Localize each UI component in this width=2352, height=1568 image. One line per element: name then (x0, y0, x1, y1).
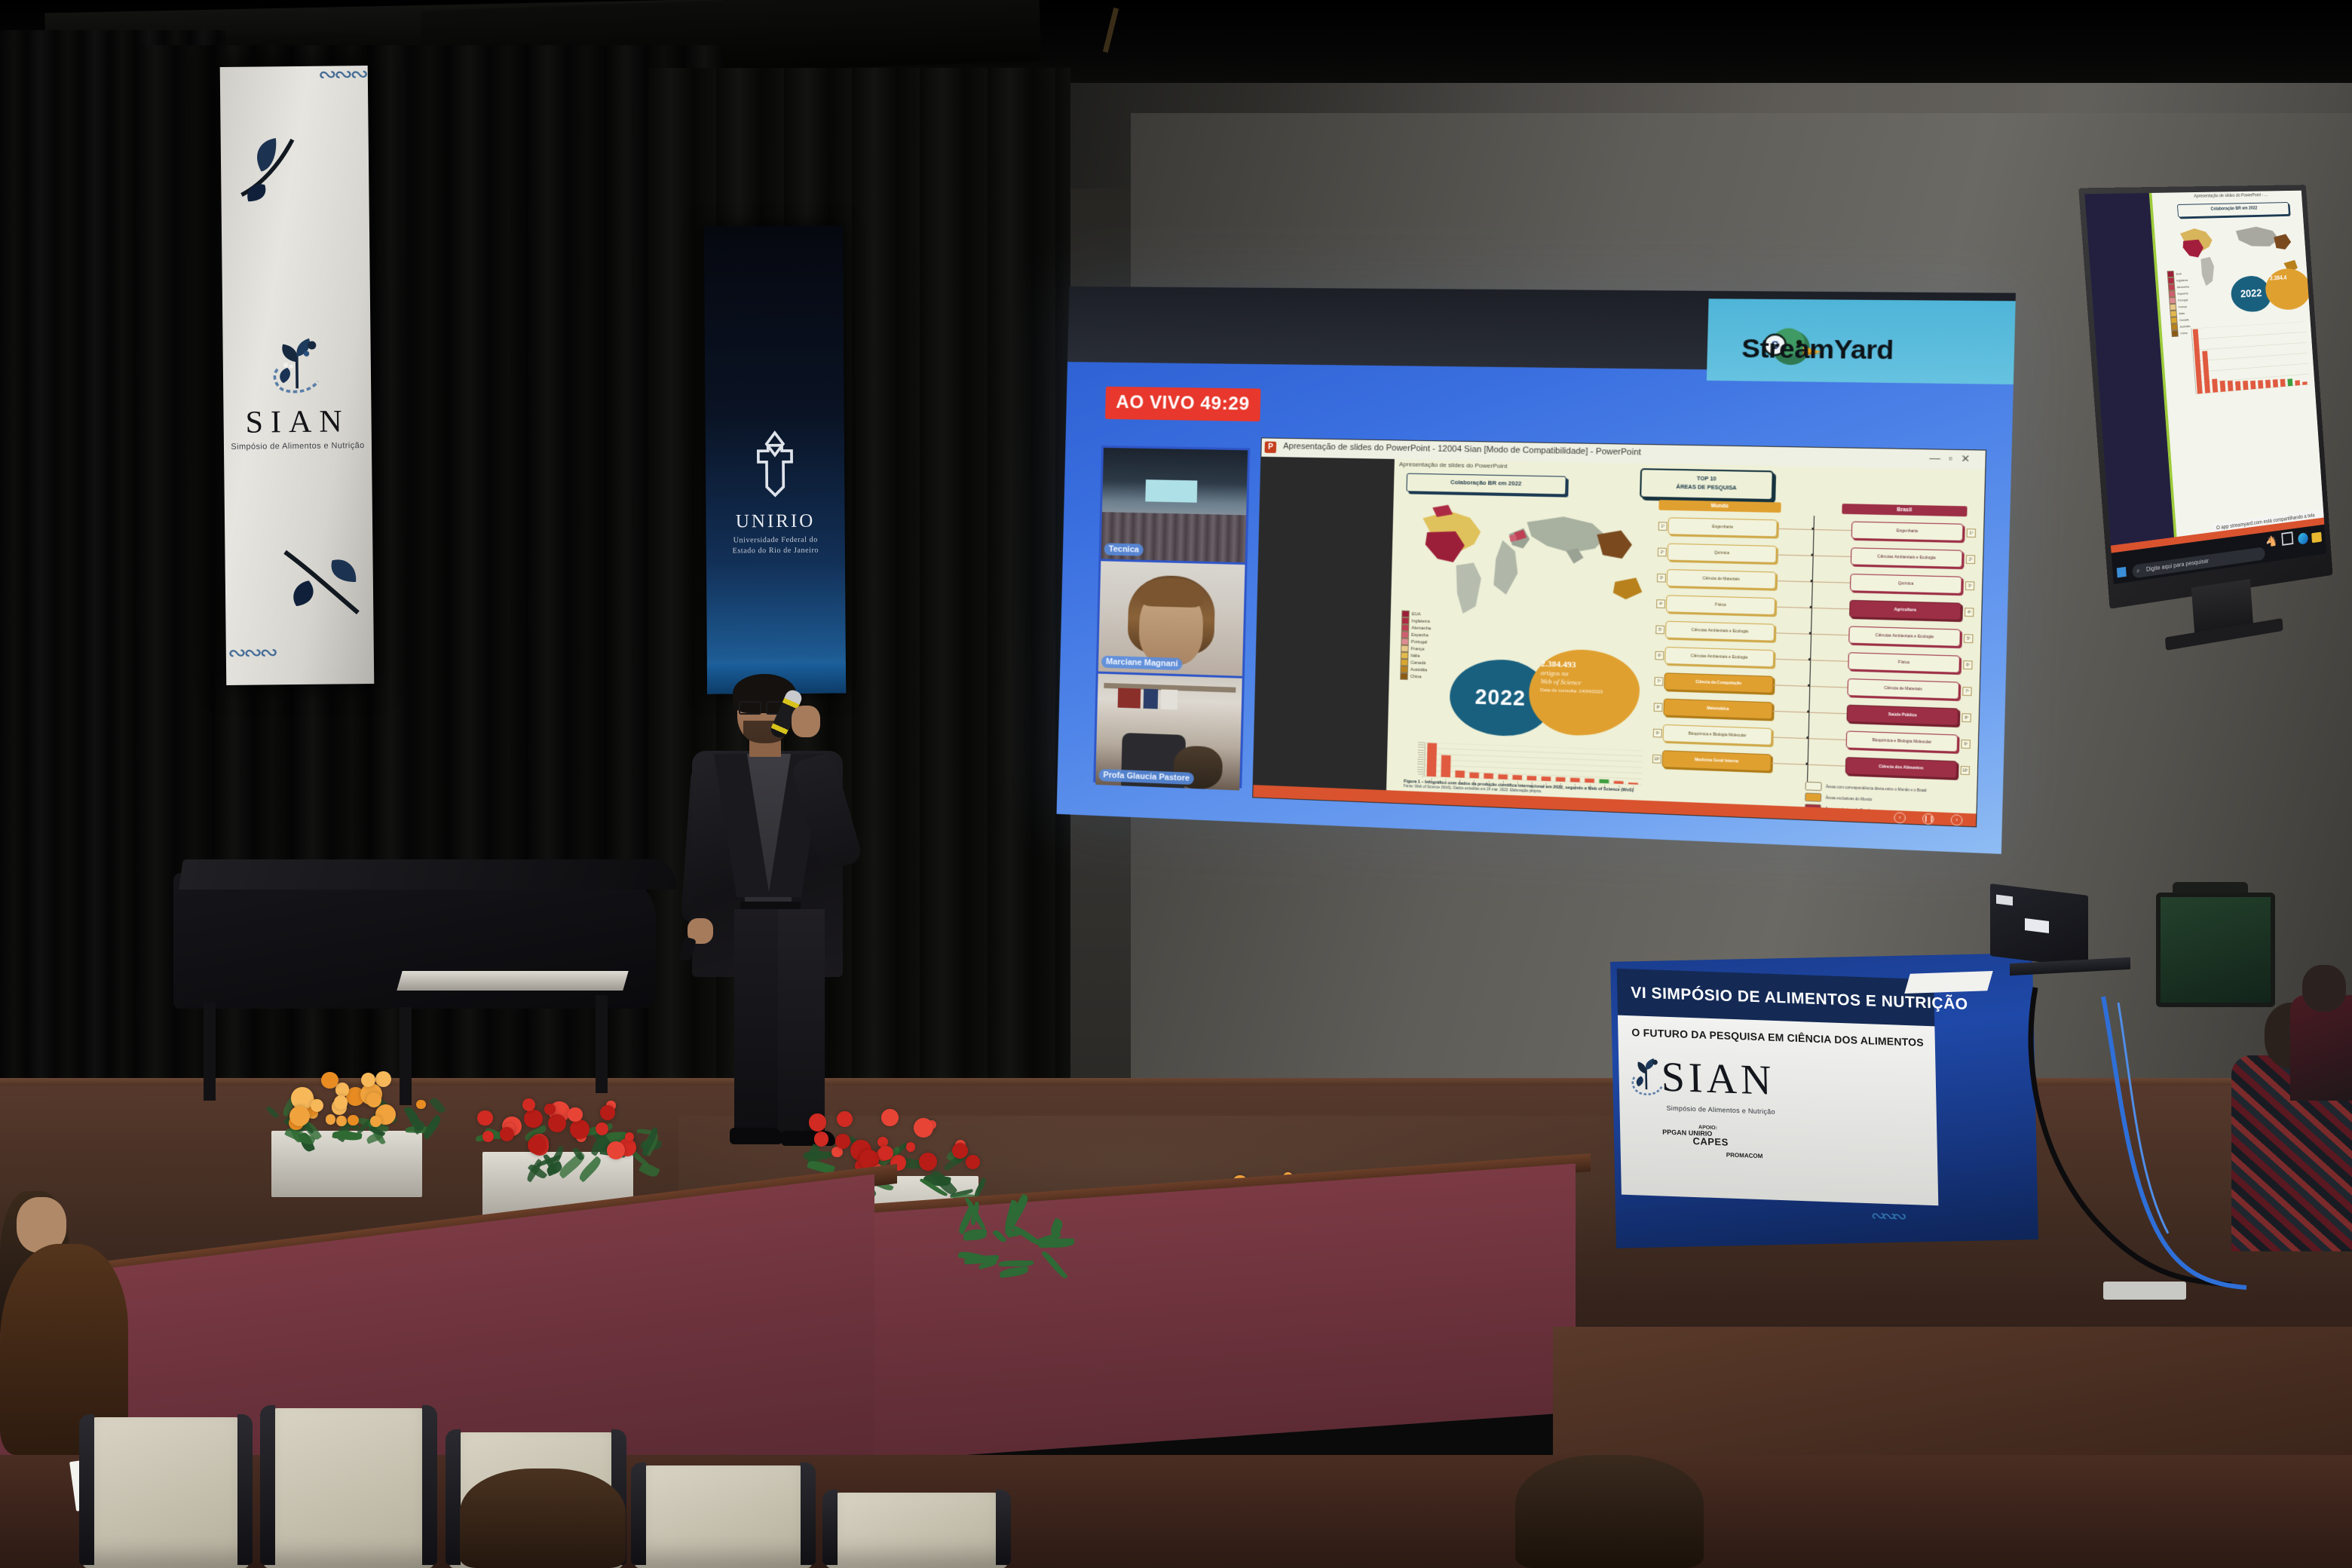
windows-start-icon[interactable] (2117, 567, 2127, 577)
chart-bar (2243, 381, 2248, 390)
flow-node: Ciências Ambientais e Ecologia (1665, 621, 1775, 642)
flower-bloom (528, 1136, 547, 1155)
flow-rank-badge: 9º (1961, 740, 1971, 749)
piano-leg (596, 995, 608, 1093)
powerpoint-icon: P (1264, 442, 1276, 453)
legend-label: Inglaterra (1412, 619, 1430, 624)
laptop-sticker-corner (1996, 895, 2013, 906)
flow-connector (1808, 712, 1846, 715)
legend-label: Portugal (2178, 298, 2188, 302)
flow-legend-swatch (1805, 782, 1822, 791)
flow-connector (1775, 632, 1811, 634)
chart-y-tick: 50.000 (1418, 773, 1423, 775)
presenter-leg-left (734, 909, 779, 1135)
legend-label: Alemanha (2177, 285, 2189, 289)
streamyard-wordmark: StreamYard (1741, 334, 1991, 368)
chart-gridline (2191, 321, 2305, 328)
powerpoint-letterbox-left (1253, 457, 1395, 803)
book (1160, 689, 1178, 709)
map-legend-row: China (1400, 672, 1449, 681)
chart-bar (2202, 351, 2210, 393)
flower-arrangement (264, 1067, 430, 1140)
chart-y-tick: 250.000 (1418, 764, 1424, 765)
chart-gridline (2194, 353, 2308, 361)
chart-y-tick: 700.000 (1418, 743, 1424, 744)
collaboration-box: Colaboração BR em 2022 (1406, 473, 1566, 495)
chart-y-tick: 550.000 (1418, 749, 1424, 751)
previous-slide-icon[interactable]: ‹ (1894, 812, 1906, 823)
sian-tagline: Simpósio de Alimentos e Nutrição (224, 441, 372, 452)
articles-stat-blob: 2.384.493 artigos na Web of Science Data… (1528, 648, 1640, 738)
book (1117, 688, 1141, 709)
flow-node: Ciências Ambientais e Ecologia (1851, 547, 1963, 568)
flower-bloom (522, 1098, 535, 1111)
unirio-wordmark: UNIRIO (706, 510, 844, 532)
flower-arrangement (475, 1095, 641, 1164)
chart-y-tick: 400.000 (1418, 757, 1424, 758)
legend-label: França (2179, 305, 2187, 308)
flow-rank-badge: 3º (1657, 574, 1666, 583)
chart-y-tick: 500.000 (1418, 752, 1424, 753)
monitor-bar-chart (2174, 321, 2311, 400)
flow-connector (1777, 555, 1813, 556)
legend-swatch (1401, 624, 1410, 632)
flow-connector (1772, 763, 1808, 765)
flow-connector-dot (1808, 658, 1811, 660)
flower-bloom (544, 1104, 555, 1114)
flow-rank-badge: 8º (1962, 713, 1971, 722)
window-controls[interactable]: —▫✕ (1929, 452, 1979, 466)
chart-gridline (2194, 363, 2308, 372)
flow-node: Ciência de Materiais (1847, 678, 1959, 700)
legend-swatch (1401, 638, 1409, 645)
leaf-ornament-icon-bottom (277, 533, 369, 624)
flow-connector (1809, 686, 1847, 688)
flow-connector (1813, 556, 1851, 557)
chart-bar (2228, 381, 2234, 391)
laptop[interactable] (1990, 890, 2126, 980)
flow-node: Ciência de Materiais (1667, 569, 1776, 590)
piano-keys (397, 971, 628, 991)
flow-connector (1778, 528, 1814, 530)
flow-connector (1808, 738, 1845, 740)
chart-bar (1542, 776, 1551, 781)
fern-frond (1000, 1266, 1029, 1279)
flow-node: Bioquímica e Biologia Molecular (1846, 730, 1958, 752)
presenter-shoe-left (730, 1128, 782, 1144)
chart-bar (1556, 777, 1566, 782)
flow-rank-badge: 4º (1965, 608, 1974, 617)
audience-member (1515, 1455, 1711, 1568)
chart-bar (1614, 781, 1624, 784)
unirio-banner: UNIRIO Universidade Federal do Estado do… (704, 225, 846, 694)
legend-label: Espanha (2177, 291, 2188, 296)
presenter (671, 678, 867, 1176)
flower-bloom (289, 1106, 310, 1126)
sponsor-capes: CAPES (1692, 1135, 1729, 1148)
flow-rank-badge: 1º (1658, 522, 1668, 531)
flow-connector-dot (1809, 632, 1811, 634)
flow-connector-dot (1807, 710, 1809, 712)
flow-rank-badge: 5º (1964, 634, 1974, 643)
chart-y-tick: 350.000 (1418, 759, 1424, 761)
flower-bloom (311, 1099, 324, 1113)
dna-helix-icon-bottom: ∾∾∾ (228, 639, 276, 666)
search-icon: ⌕ (2136, 564, 2140, 577)
live-timer: 49:29 (1200, 393, 1250, 414)
participant-tile-strip: Tecnica Marciane Magnani Profa Glaucia P… (1093, 446, 1250, 789)
legend-label: Alemanha (1411, 626, 1431, 631)
table-banner: VI SIMPÓSIO DE ALIMENTOS E NUTRIÇÃO O FU… (1617, 969, 1939, 1206)
chart-bar (1427, 743, 1438, 776)
flow-rank-badge: 2º (1658, 548, 1667, 557)
chart-y-tick: 100.000 (1417, 771, 1423, 773)
chart-y-tick: 450.000 (1418, 755, 1424, 756)
audience-member (460, 1468, 633, 1568)
chart-bar (1455, 770, 1465, 778)
flower-bloom (881, 1109, 899, 1126)
flower-bloom (966, 1155, 980, 1169)
legend-swatch (1401, 652, 1409, 660)
dna-helix-icon-table: ∾∾∾ (1870, 1205, 1903, 1227)
task-view-icon[interactable]: 🐴 (2265, 534, 2277, 548)
leaf-ornament-icon (233, 130, 317, 213)
map-legend: EUAInglaterraAlemanhaEspanhaPortugalFran… (1400, 611, 1450, 681)
flower-bloom (500, 1127, 514, 1141)
monitor-slide: Apresentação de slides do PowerPoint - .… (2151, 191, 2324, 544)
flower-bloom (809, 1113, 826, 1131)
flow-node: Ciência dos Alimentos (1845, 757, 1958, 779)
window-title: Apresentação de slides do PowerPoint - 1… (1283, 442, 1641, 458)
flower-bloom (416, 1100, 425, 1109)
top-areas-label: TOP 10 ÁREAS DE PESQUISA (1641, 470, 1772, 493)
top-areas-box: TOP 10 ÁREAS DE PESQUISA (1640, 468, 1774, 501)
chart-bar (2273, 379, 2278, 387)
taskbar-search-placeholder: Digite aqui para pesquisar (2146, 557, 2210, 572)
flower-bloom (335, 1083, 349, 1096)
table-banner-subhead: O FUTURO DA PESQUISA EM CIÊNCIA DOS ALIM… (1631, 1026, 1919, 1048)
fern-frond (265, 1105, 279, 1119)
legend-swatch (1401, 617, 1410, 625)
chart-gridline (2193, 342, 2307, 350)
flower-bloom (919, 1153, 937, 1171)
flower-bloom (548, 1114, 566, 1132)
legend-label: Itália (2179, 311, 2185, 315)
flow-node: Engenharia (1851, 522, 1964, 542)
auditorium-seat (635, 1465, 812, 1568)
flow-connector-dot (1810, 606, 1812, 608)
legend-swatch (1401, 631, 1410, 639)
pause-icon[interactable]: ❙❙ (1922, 813, 1934, 825)
unirio-subtitle-l2: Estado do Rio de Janeiro (711, 545, 841, 556)
table-banner-body: O FUTURO DA PESQUISA EM CIÊNCIA DOS ALIM… (1618, 1015, 1938, 1206)
flow-node: Ciência da Computação (1664, 672, 1773, 694)
legend-label: França (1411, 647, 1425, 652)
participant-tile[interactable]: Marciane Magnani (1098, 561, 1245, 678)
powerpoint-window[interactable]: P Apresentação de slides do PowerPoint -… (1252, 437, 1986, 827)
monitor-collab-box: Colaboração BR em 2022 (2177, 202, 2289, 218)
flow-rank-badge: 1º (1967, 528, 1977, 537)
audience-hair (460, 1468, 626, 1568)
flow-node: Física (1848, 652, 1960, 673)
legend-label: Canadá (1410, 660, 1426, 666)
legend-swatch (1401, 611, 1410, 617)
explorer-icon[interactable] (2311, 532, 2322, 544)
chart-bar (2250, 381, 2256, 390)
legend-label: Austrália (1410, 667, 1427, 672)
flower-bloom (607, 1141, 625, 1159)
flow-rank-badge: 5º (1655, 625, 1664, 634)
chart-bar (2235, 381, 2240, 390)
auditorium-seat (83, 1417, 249, 1568)
presenter-right-hand (792, 706, 820, 737)
flow-rank-badge: 8º (1654, 703, 1663, 712)
flower-bloom (370, 1116, 381, 1126)
participant-name: Tecnica (1104, 543, 1144, 556)
slide-canvas: Apresentação de slides do PowerPoint Col… (1386, 459, 1985, 813)
audience-head (2302, 965, 2346, 1012)
chart-y-tick: 200.000 (1418, 767, 1424, 768)
flow-node: Física (1666, 595, 1775, 615)
flow-rank-badge: 3º (1965, 581, 1975, 590)
chart-bar (2287, 378, 2292, 386)
flow-connector (1776, 580, 1812, 582)
legend-label: Austrália (2179, 324, 2190, 329)
chart-bar (1498, 774, 1508, 779)
projection-screen: Desenvolvido por S StreamYard AO VIVO 49… (1057, 286, 2016, 854)
legend-swatch (1400, 672, 1408, 680)
flow-connector-dot (1811, 528, 1814, 530)
flow-rank-badge: 6º (1655, 651, 1664, 660)
flower-bloom (348, 1115, 358, 1125)
chart-bar (1599, 779, 1609, 784)
chart-gridline (2192, 332, 2306, 339)
flower-bloom (326, 1114, 335, 1124)
auditorium-seat (264, 1408, 433, 1568)
flower-bloom (482, 1131, 494, 1142)
flow-rank-badge: 7º (1962, 687, 1972, 696)
participant-name: Marciane Magnani (1101, 656, 1183, 671)
legend-label: Espanha (1411, 632, 1429, 638)
unirio-logo-icon (740, 430, 810, 509)
flow-connector-dot (1806, 737, 1808, 739)
auditorium-scene: ∾∾∾ ∾∾∾ SIAN Simpósio de Alimentos e Nut… (0, 0, 2352, 1568)
chart-bar (2302, 381, 2308, 385)
legend-label: Inglaterra (2176, 278, 2188, 283)
flow-rank-badge: 6º (1963, 660, 1973, 669)
chart-bar (2258, 380, 2263, 388)
flow-node: Medicina Geral Interna (1662, 750, 1772, 771)
top-areas-line1: TOP 10 (1697, 476, 1717, 482)
legend-label: Portugal (1411, 639, 1427, 645)
flow-connector (1808, 764, 1845, 767)
flower-bloom (477, 1110, 493, 1126)
table-banner-sian-wordmark: SIAN (1661, 1053, 1836, 1107)
chart-y-tick: 300.000 (1418, 761, 1424, 763)
legend-swatch (1401, 659, 1409, 666)
flow-connector (1811, 634, 1848, 636)
legend-swatch (1400, 666, 1408, 673)
chart-bar (1484, 773, 1493, 779)
monitor-stat-blob: 2.384.4 (2264, 268, 2311, 311)
flower-bloom (336, 1116, 346, 1125)
flower-bloom (914, 1118, 933, 1138)
chart-bar (2295, 380, 2300, 385)
chart-bar (1585, 779, 1594, 783)
chart-bar (2265, 380, 2271, 388)
top-areas-line2: ÁREAS DE PESQUISA (1676, 485, 1736, 492)
piano-leg (204, 1003, 216, 1101)
flow-rank-badge: 10º (1652, 755, 1661, 764)
flow-connector-dot (1811, 554, 1813, 556)
seated-person-right-2 (2290, 965, 2352, 1101)
legend-label: EUA (2176, 272, 2182, 276)
chart-y-tick: 600.000 (1418, 747, 1424, 749)
edge-icon[interactable] (2298, 532, 2308, 545)
sian-wordmark: SIAN (223, 403, 371, 441)
power-strip (2103, 1282, 2186, 1300)
flow-node: Agricultura (1849, 600, 1962, 620)
piano-lid (179, 859, 681, 890)
top-areas-flow-diagram: Mundo Brasil Engenharia1ºQuímica2ºCiênci… (1649, 500, 1977, 802)
grand-piano (173, 859, 716, 1101)
flow-rank-badge: 10º (1960, 766, 1970, 775)
flower-bloom (835, 1134, 850, 1149)
audience-hair (1515, 1455, 1704, 1568)
flow-legend-label: Áreas com correspondência direta entre o… (1826, 785, 1927, 793)
flow-node: Química (1850, 574, 1962, 594)
flower-planter (271, 1131, 422, 1197)
flow-column-world-header: Mundo (1658, 500, 1781, 513)
monitor-screen[interactable]: Apresentação de slides do PowerPoint - .… (2084, 191, 2326, 584)
presenter-leg-right (778, 909, 825, 1135)
legend-label: Canadá (2179, 317, 2189, 322)
flow-node: Ciências Ambientais e Ecologia (1848, 626, 1961, 647)
flow-node: Saúde Pública (1846, 705, 1958, 726)
flow-rank-badge: 2º (1966, 555, 1976, 564)
flower-bloom (814, 1132, 829, 1147)
legend-swatch (1401, 645, 1409, 653)
flow-connector (1814, 529, 1851, 531)
flow-column-brazil-header: Brasil (1842, 504, 1967, 516)
flower-bloom (952, 1143, 968, 1159)
sian-vertical-banner: ∾∾∾ ∾∾∾ SIAN Simpósio de Alimentos e Nut… (220, 66, 375, 685)
flow-rank-badge: 4º (1656, 599, 1665, 608)
task-view-square-icon[interactable] (2281, 531, 2293, 546)
flow-connector (1812, 581, 1850, 583)
participant-tile[interactable]: Profa Glaucia Pastore (1095, 674, 1242, 791)
unirio-subtitle-l1: Universidade Federal do (711, 534, 841, 546)
chart-y-tick: 150.000 (1417, 769, 1423, 770)
fern-frond (963, 1229, 988, 1240)
second-monitor: Apresentação de slides do PowerPoint - .… (2078, 185, 2332, 609)
flow-connector (1811, 608, 1849, 609)
fern-plant (935, 1196, 1055, 1279)
flow-connector-dot (1805, 763, 1808, 765)
flow-node: Matemática (1663, 699, 1772, 720)
flow-connector-dot (1811, 580, 1813, 582)
fern-frond (999, 1260, 1034, 1266)
chart-bar (1512, 775, 1522, 780)
legend-label: China (1410, 674, 1422, 679)
flow-node: Química (1668, 544, 1777, 563)
flow-connector-dot (1808, 684, 1810, 687)
flow-connector (1774, 659, 1810, 661)
flow-connector (1775, 607, 1811, 608)
flow-connector (1773, 684, 1809, 687)
next-slide-icon[interactable]: › (1951, 814, 1963, 825)
sian-plant-logo-icon (262, 330, 332, 400)
chart-bar (2280, 379, 2286, 387)
flower-bloom (568, 1107, 582, 1122)
flower-bloom (837, 1111, 853, 1127)
chart-y-tick: 0 (1423, 776, 1424, 778)
flow-node: Ciências Ambientais e Ecologia (1664, 647, 1774, 667)
book (1143, 689, 1158, 709)
sponsor-promacom: PROMACOM (1726, 1152, 1763, 1160)
live-status-badge: AO VIVO 49:29 (1105, 387, 1260, 421)
chart-bar (1441, 755, 1450, 777)
chart-bar (2220, 381, 2226, 392)
chart-y-tick: 650.000 (1418, 745, 1424, 746)
flower-bloom (321, 1072, 338, 1089)
flow-node: Bioquímica e Biologia Molecular (1662, 724, 1772, 746)
participant-tile[interactable]: Tecnica (1101, 448, 1248, 565)
auditorium-seat (826, 1493, 1007, 1568)
flower-bloom (361, 1073, 376, 1088)
collaboration-label: Colaboração BR em 2022 (1407, 474, 1566, 493)
live-label: AO VIVO (1116, 392, 1195, 414)
chart-bar (1570, 778, 1580, 782)
articles-line3: Data de consulta: 14/04/2023 (1540, 688, 1631, 697)
unirio-subtitle: Universidade Federal do Estado do Rio de… (711, 534, 841, 556)
flower-bloom (596, 1122, 608, 1135)
flow-connector (1772, 737, 1808, 739)
chart-bar (1469, 772, 1479, 778)
apoio-label: APOIO: (1698, 1125, 1717, 1131)
chart-bar (1527, 776, 1536, 780)
flower-bloom (600, 1105, 615, 1120)
hall-screen (1145, 479, 1197, 503)
chart-bar (2212, 378, 2218, 392)
flow-rank-badge: 9º (1653, 729, 1662, 738)
flower-bloom (570, 1119, 590, 1139)
flow-rank-badge: 7º (1654, 677, 1663, 686)
flow-node: Engenharia (1668, 517, 1777, 537)
legend-label: Itália (1410, 654, 1419, 659)
flower-bloom (334, 1095, 348, 1109)
flow-connector (1810, 660, 1848, 662)
legend-label: EUA (1412, 612, 1421, 617)
flower-bloom (524, 1110, 543, 1129)
dna-helix-icon: ∾∾∾ (318, 61, 366, 88)
flower-bloom (906, 1142, 915, 1151)
flow-connector (1772, 711, 1808, 713)
